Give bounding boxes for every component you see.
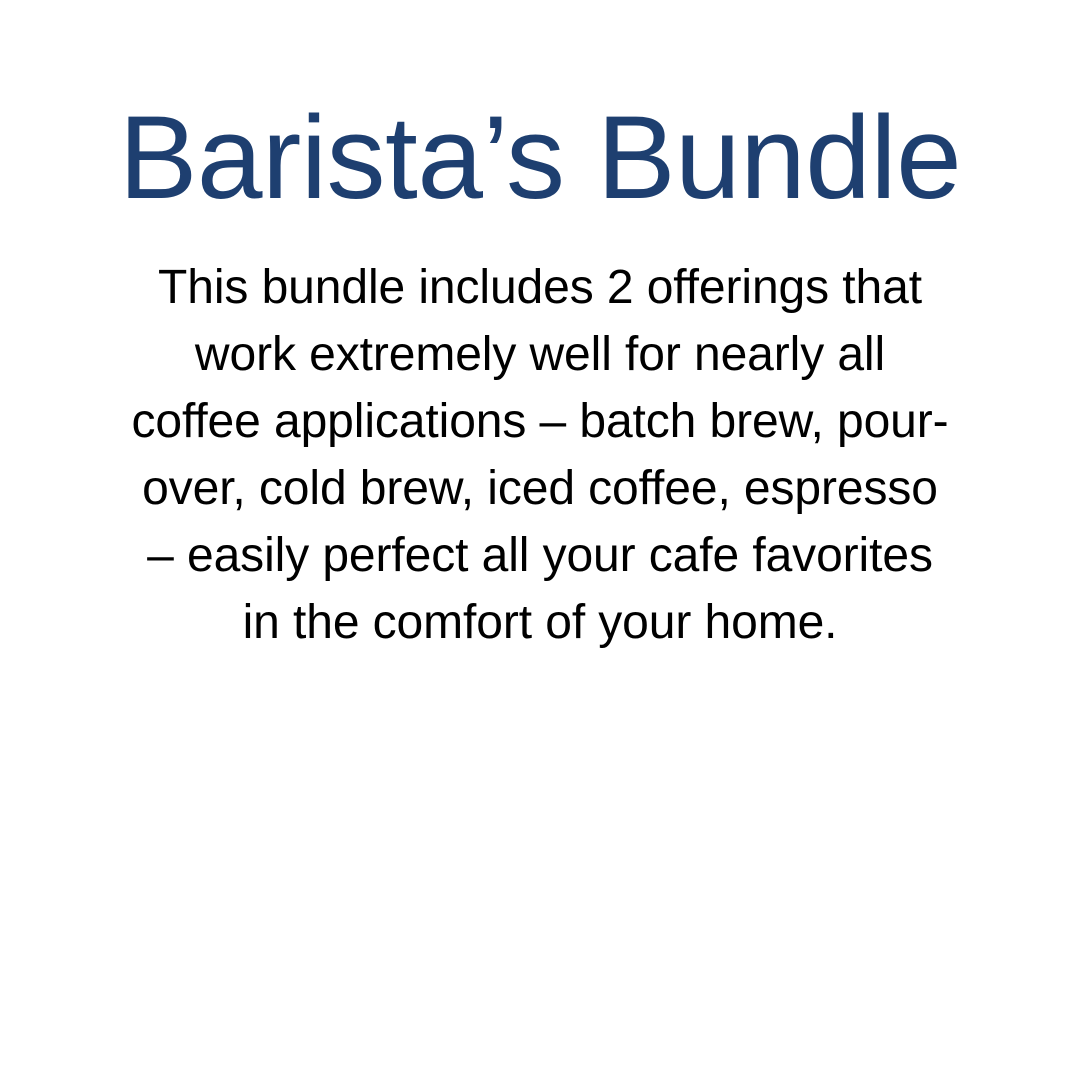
product-description: This bundle includes 2 offerings that wo…: [124, 224, 956, 656]
page-title: Barista’s Bundle: [0, 92, 1080, 224]
content-block: Barista’s Bundle This bundle includes 2 …: [0, 0, 1080, 656]
empty-region: [0, 690, 1080, 1080]
product-description-card: Barista’s Bundle This bundle includes 2 …: [0, 0, 1080, 1080]
